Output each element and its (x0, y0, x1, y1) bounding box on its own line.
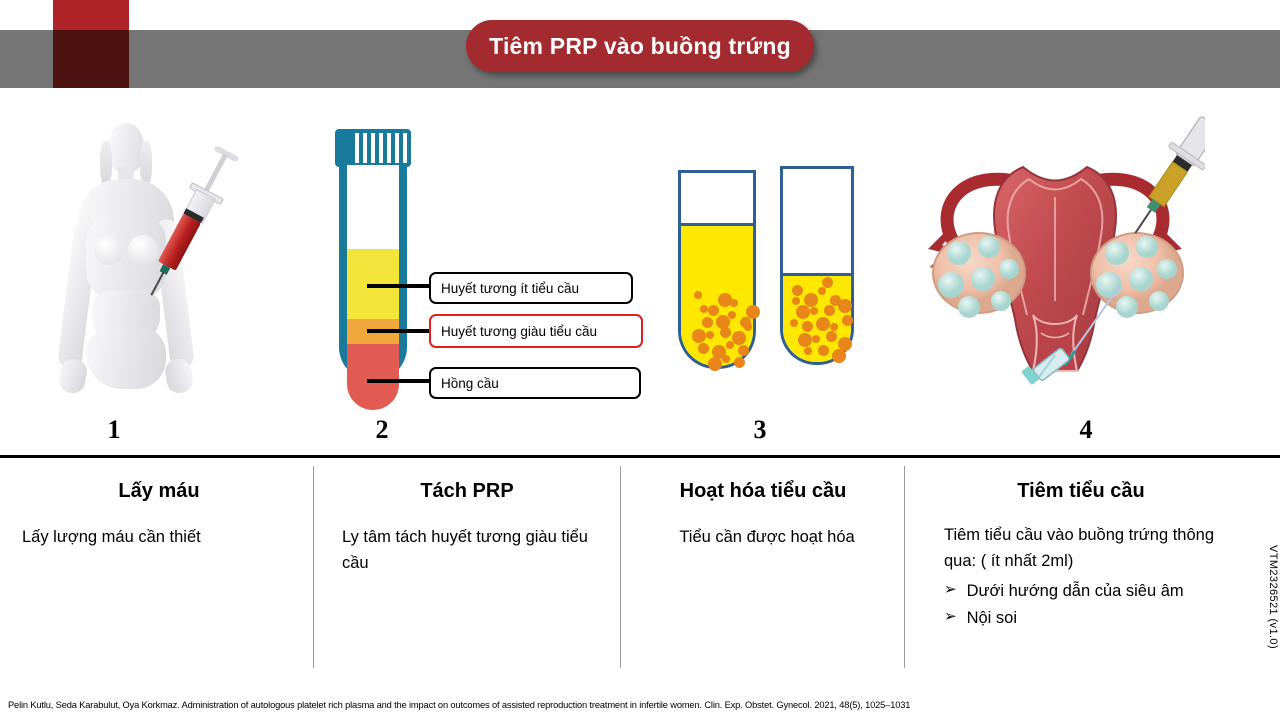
platelet-dot (744, 323, 752, 331)
platelet-dot (792, 297, 800, 305)
hair-right (140, 141, 152, 185)
slide: Tiêm PRP vào buồng trứng (0, 0, 1280, 720)
bullet-item: ➢ Nội soi (944, 605, 1246, 631)
bullet-item: ➢ Dưới hướng dẫn của siêu âm (944, 578, 1246, 604)
platelet-dot (818, 287, 826, 295)
platelet-dot (746, 305, 760, 319)
uterus-illustration (905, 105, 1205, 395)
label-text: Huyết tương ít tiểu cầu (441, 281, 579, 296)
platelet-dot (734, 357, 745, 368)
centrifuge-tube-illustration: Huyết tương ít tiểu cầu Huyết tương giàu… (325, 129, 625, 399)
head-shape (108, 123, 144, 173)
step-heading-4: Tiêm tiểu cầu (916, 458, 1246, 503)
label-platelet-rich-plasma: Huyết tương giàu tiểu cầu (429, 314, 643, 348)
label-platelet-poor-plasma: Huyết tương ít tiểu cầu (429, 272, 633, 304)
step-body-1: Lấy lượng máu cần thiết (14, 503, 304, 551)
hair-left (100, 141, 112, 185)
step-number-3: 3 (646, 415, 874, 445)
column-divider-3 (904, 466, 905, 668)
platelet-dot (812, 335, 820, 343)
tube-left-fill-line (678, 223, 756, 226)
hips-shape (86, 327, 166, 389)
step-column-3: Hoạt hóa tiểu cầu Tiểu cần được hoạt hóa (630, 458, 896, 551)
platelet-dot (832, 349, 846, 363)
accent-stripe-bottom (53, 30, 129, 88)
tube-right-fill-line (780, 273, 854, 276)
label-text: Huyết tương giàu tiểu cầu (441, 324, 597, 339)
platelet-dot (726, 341, 734, 349)
platelet-dot (708, 357, 722, 371)
breast-left (94, 235, 124, 265)
platelet-dot (694, 291, 702, 299)
bullet-text: Dưới hướng dẫn của siêu âm (967, 578, 1184, 604)
step-number-row: 1 2 3 4 (0, 415, 1280, 453)
layer-red-blood-cells (347, 344, 399, 410)
step-number-4: 4 (972, 415, 1200, 445)
column-divider-1 (313, 466, 314, 668)
label-red-blood-cells: Hồng cầu (429, 367, 641, 399)
citation-text: Pelin Kutlu, Seda Karabulut, Oya Korkmaz… (8, 700, 1272, 711)
arrow-bullet-icon: ➢ (944, 605, 957, 629)
figure-row: Huyết tương ít tiểu cầu Huyết tương giàu… (0, 95, 1280, 410)
platelet-dot (810, 307, 818, 315)
platelet-dot (790, 319, 798, 327)
tube-cap-ribs (351, 133, 415, 163)
platelet-dot (728, 311, 736, 319)
platelet-dot (706, 331, 714, 339)
label-text: Hồng cầu (441, 376, 499, 391)
tube-right-rim (780, 166, 854, 169)
step-number-2: 2 (268, 415, 496, 445)
step-body-2: Ly tâm tách huyết tương giàu tiểu cầu (326, 503, 608, 576)
tube-left-rim (678, 170, 756, 173)
platelet-dot (722, 355, 730, 363)
tube-cap (335, 129, 411, 167)
step-heading-2: Tách PRP (326, 458, 608, 503)
step-text-row: Lấy máu Lấy lượng máu cần thiết Tách PRP… (0, 458, 1280, 673)
arrow-bullet-icon: ➢ (944, 578, 957, 602)
bullet-text: Nội soi (967, 605, 1017, 631)
step-body-4: Tiêm tiểu cầu vào buồng trứng thông qua:… (916, 503, 1246, 574)
step-column-1: Lấy máu Lấy lượng máu cần thiết (14, 458, 304, 551)
female-body-illustration (22, 113, 232, 383)
document-code: VTM2326521 (v1.0) (1267, 545, 1279, 649)
step-heading-1: Lấy máu (14, 458, 304, 503)
accent-stripe-top (53, 0, 129, 30)
step-column-4: Tiêm tiểu cầu Tiêm tiểu cầu vào buồng tr… (916, 458, 1246, 631)
column-divider-2 (620, 466, 621, 668)
platelet-dot (804, 347, 812, 355)
step-body-3: Tiểu cần được hoạt hóa (630, 503, 896, 551)
step-column-2: Tách PRP Ly tâm tách huyết tương giàu ti… (326, 458, 608, 576)
platelet-activation-tubes (672, 165, 862, 380)
platelet-dot (730, 299, 738, 307)
page-title: Tiêm PRP vào buồng trứng (489, 33, 791, 60)
syringe-plunger (203, 153, 228, 194)
platelet-dot (830, 323, 838, 331)
step-heading-3: Hoạt hóa tiểu cầu (630, 458, 896, 503)
syringe-thumb-rest (214, 145, 240, 163)
step-bullet-list-4: ➢ Dưới hướng dẫn của siêu âm ➢ Nội soi (916, 574, 1246, 631)
platelet-dot (700, 305, 708, 313)
step-number-1: 1 (0, 415, 228, 445)
title-badge: Tiêm PRP vào buồng trứng (466, 20, 814, 72)
uterus-svg (905, 105, 1205, 395)
